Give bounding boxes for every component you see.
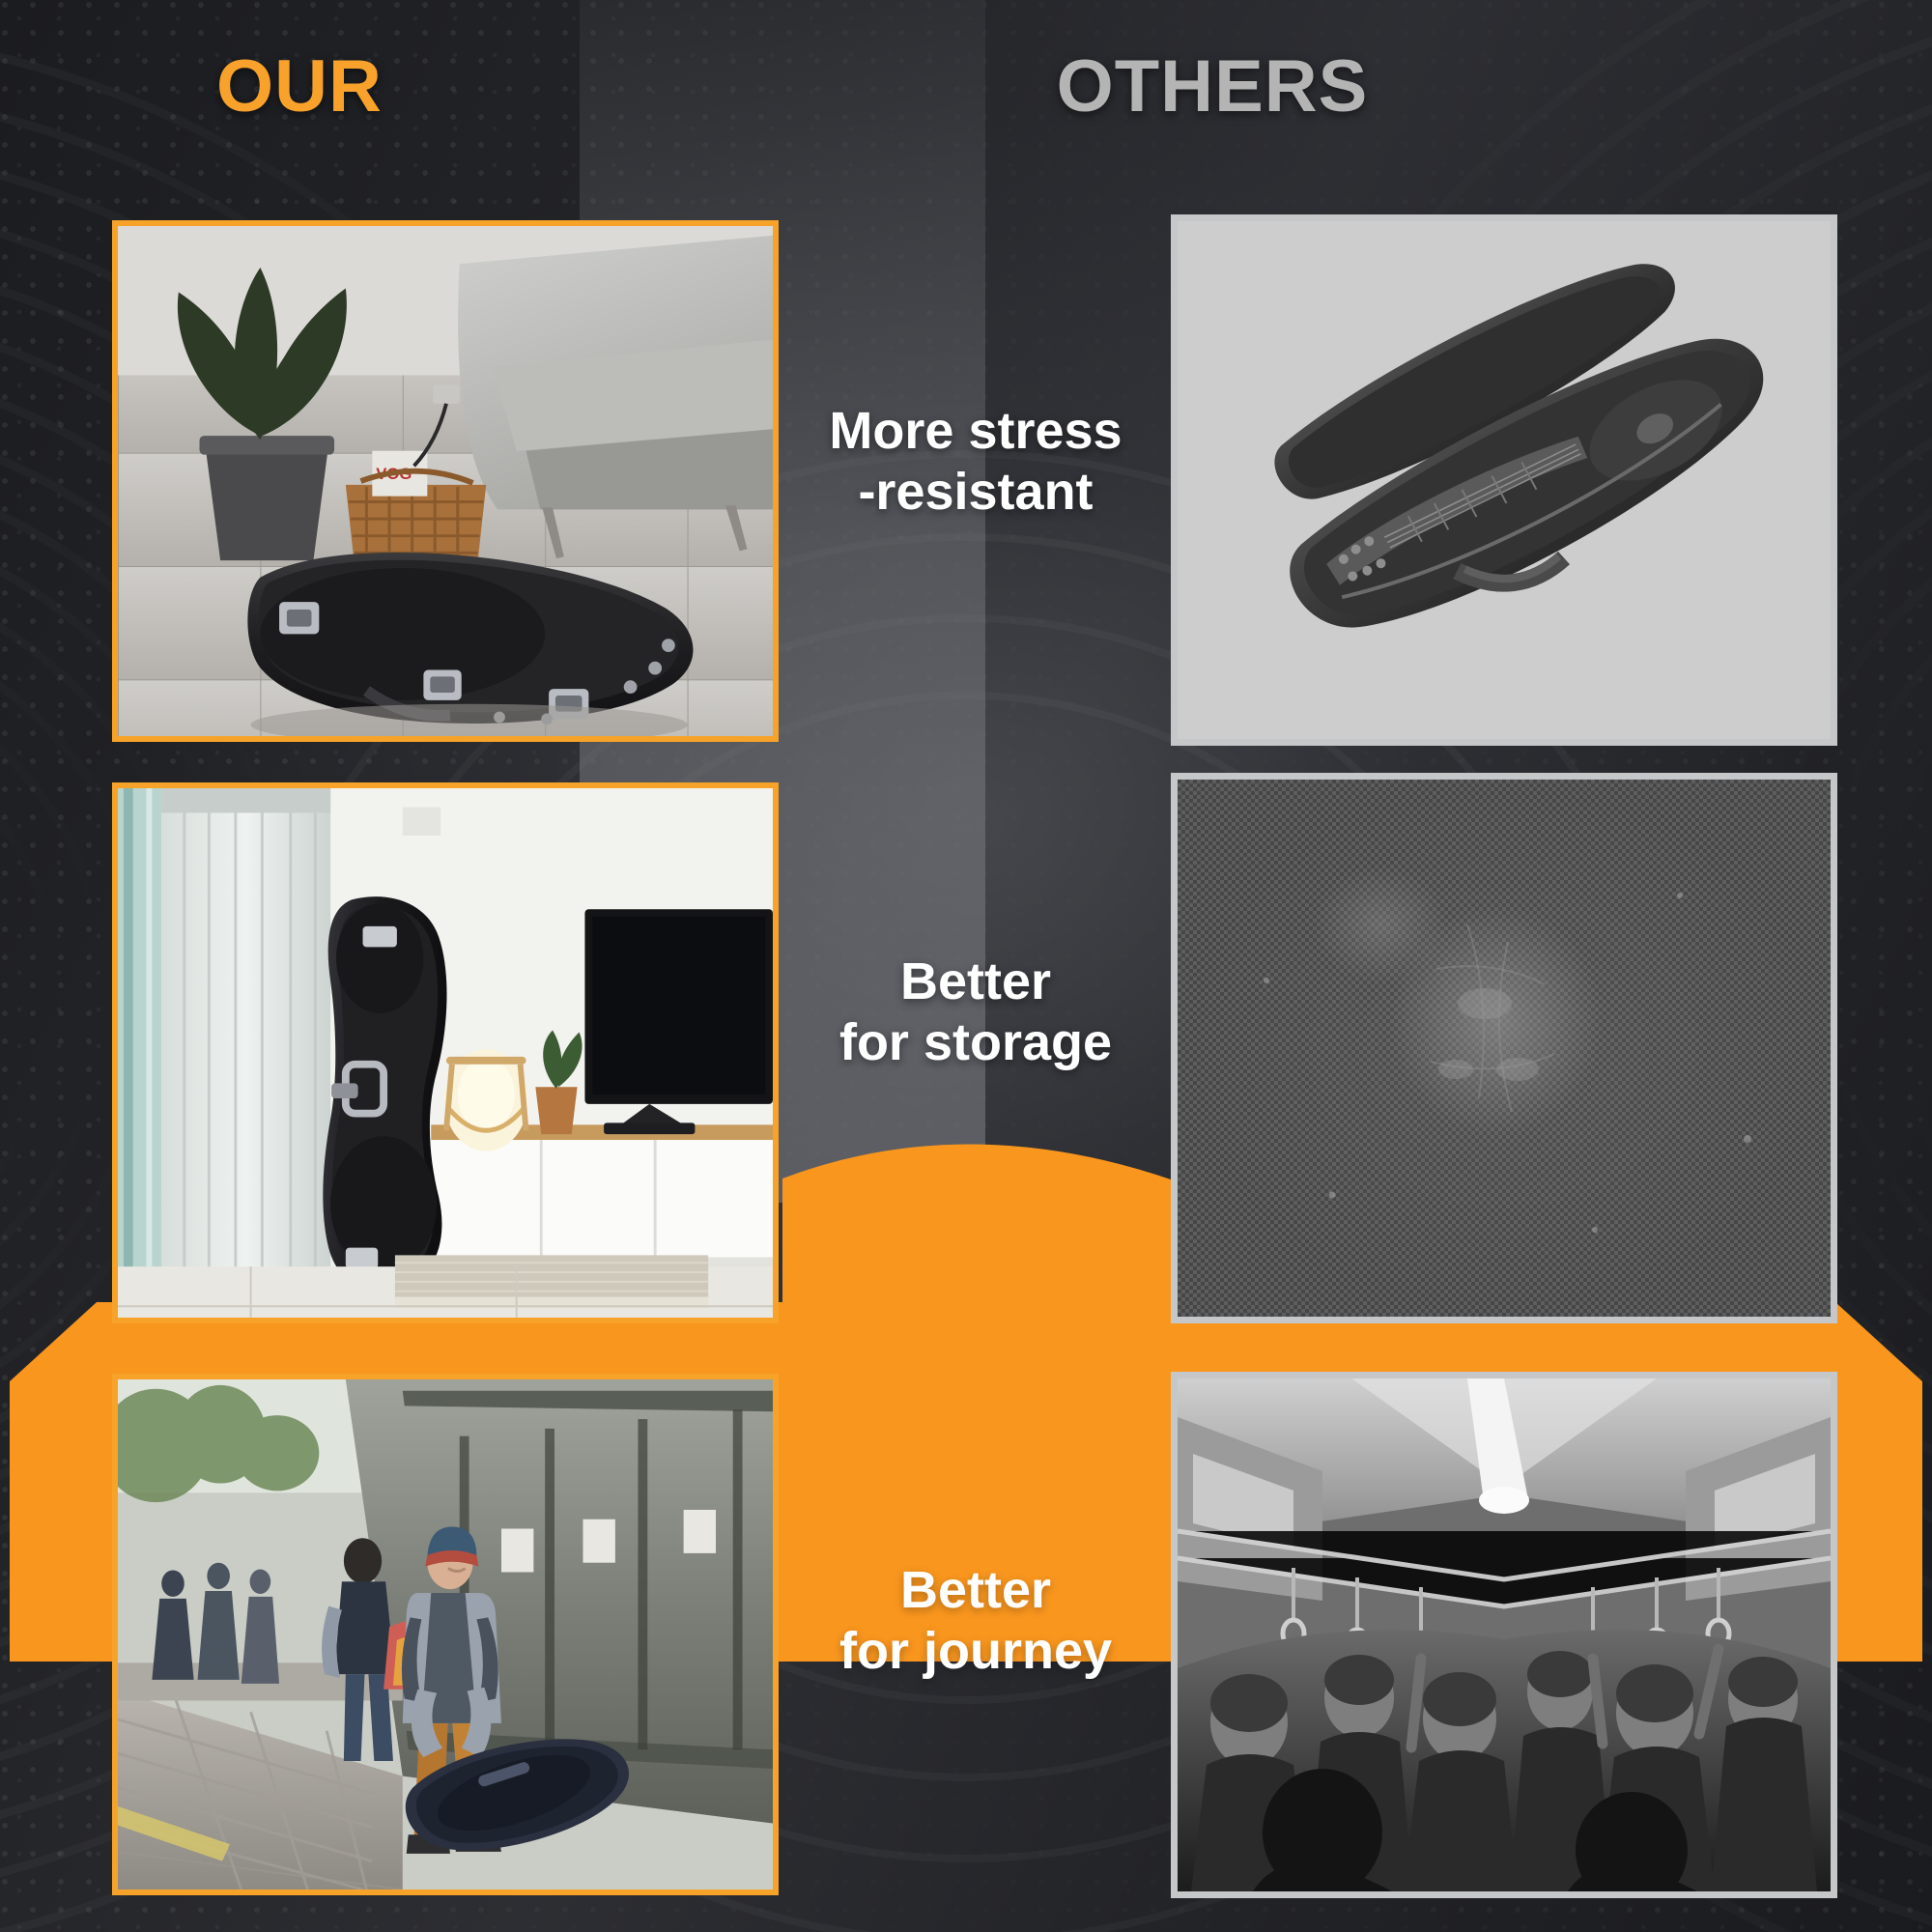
others-photo-storage[interactable] [1171, 773, 1837, 1323]
others-photo-stress-resistant[interactable] [1171, 214, 1837, 746]
our-photo-journey[interactable] [112, 1374, 779, 1895]
header-others: OTHERS [913, 50, 1512, 124]
our-photo-stress-resistant[interactable]: VOG [112, 220, 779, 742]
label-stress-resistant: More stress -resistant [782, 401, 1169, 522]
our-photo-storage[interactable] [112, 782, 779, 1323]
header-our: OUR [0, 50, 599, 124]
label-storage: Better for storage [782, 952, 1169, 1072]
comparison-poster: OUR OTHERS [0, 0, 1932, 1932]
label-journey: Better for journey [782, 1560, 1169, 1681]
others-photo-journey[interactable] [1171, 1372, 1837, 1898]
